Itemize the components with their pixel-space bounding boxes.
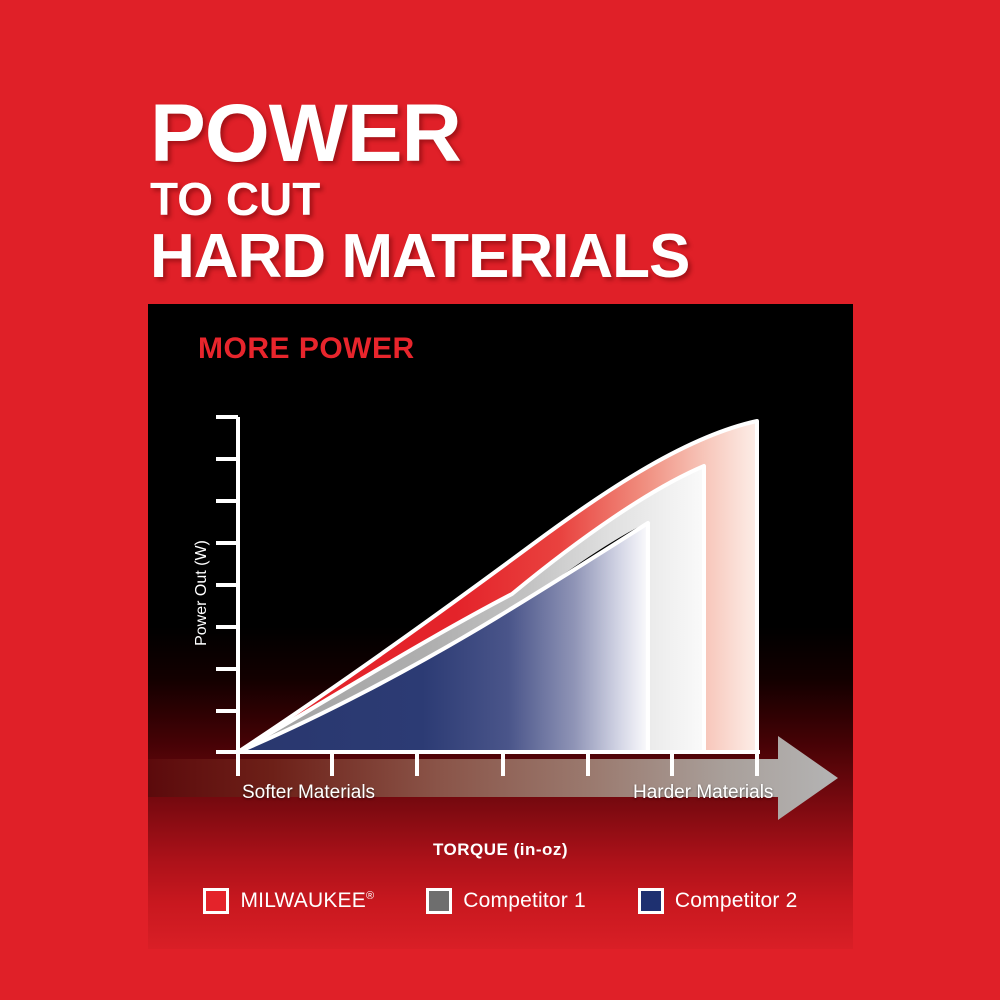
registered-trademark-icon: ® — [366, 890, 374, 902]
legend-item-competitor-1[interactable]: Competitor 1 — [426, 888, 586, 914]
legend-swatch-milwaukee — [203, 888, 229, 914]
poster-canvas: POWER TO CUT HARD MATERIALS MORE POWER — [0, 0, 1000, 1000]
legend-label-milwaukee: MILWAUKEE® — [240, 889, 374, 913]
x-axis-category-softer: Softer Materials — [242, 782, 375, 804]
legend-swatch-competitor-1 — [426, 888, 452, 914]
x-axis-category-harder: Harder Materials — [633, 782, 773, 804]
legend-label-milwaukee-text: MILWAUKEE — [240, 889, 365, 912]
headline-line-1: POWER — [150, 96, 884, 171]
headline-line-2: TO CUT — [150, 175, 870, 223]
legend-label-competitor-1: Competitor 1 — [463, 889, 586, 913]
chart-legend: MILWAUKEE® Competitor 1 Competitor 2 — [148, 888, 853, 914]
x-axis-label: TORQUE (in-oz) — [148, 840, 853, 860]
headline-block: POWER TO CUT HARD MATERIALS — [150, 96, 870, 288]
legend-item-milwaukee[interactable]: MILWAUKEE® — [203, 888, 374, 914]
legend-item-competitor-2[interactable]: Competitor 2 — [638, 888, 798, 914]
y-axis-label: Power Out (W) — [193, 513, 211, 673]
legend-label-competitor-2: Competitor 2 — [675, 889, 798, 913]
headline-line-3: HARD MATERIALS — [150, 226, 870, 288]
y-axis-ticks — [216, 417, 238, 752]
legend-swatch-competitor-2 — [638, 888, 664, 914]
chart-panel: MORE POWER — [148, 304, 853, 949]
